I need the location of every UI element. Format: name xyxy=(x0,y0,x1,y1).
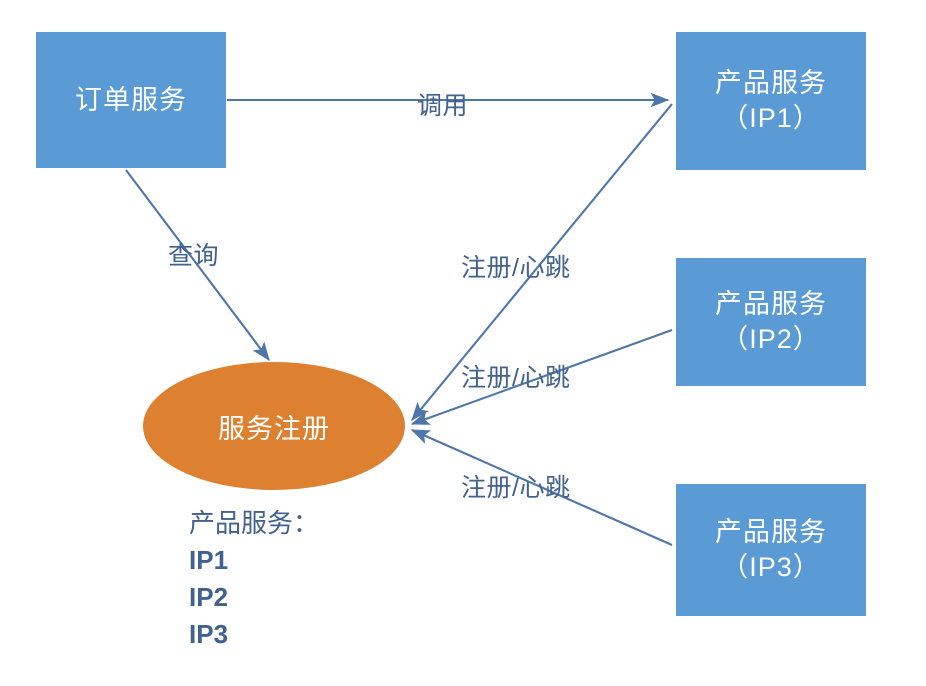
registry-note-entry-ip1: IP1 xyxy=(189,542,319,579)
node-service-registry-label: 服务注册 xyxy=(218,407,330,446)
registry-note-heading: 产品服务： xyxy=(189,505,319,542)
node-product-service-ip2[interactable]: 产品服务 （IP2） xyxy=(676,258,866,386)
edge-label-register-heartbeat-3: 注册/心跳 xyxy=(461,468,570,504)
node-product-service-ip1[interactable]: 产品服务 （IP1） xyxy=(676,32,866,170)
node-product-service-ip2-label: 产品服务 xyxy=(715,287,827,322)
node-order-service-label: 订单服务 xyxy=(75,83,187,118)
edge-label-register-heartbeat-1: 注册/心跳 xyxy=(461,248,570,284)
edge-label-call: 调用 xyxy=(417,86,468,122)
node-product-service-ip1-sublabel: （IP1） xyxy=(721,101,821,136)
edge-label-query: 查询 xyxy=(168,236,219,272)
node-service-registry[interactable]: 服务注册 xyxy=(143,362,405,490)
node-product-service-ip3-label: 产品服务 xyxy=(715,515,827,550)
node-order-service[interactable]: 订单服务 xyxy=(36,32,226,168)
registry-note-entry-ip3: IP3 xyxy=(189,616,319,653)
node-product-service-ip3-sublabel: （IP3） xyxy=(721,550,821,585)
edge-label-register-heartbeat-2: 注册/心跳 xyxy=(461,358,570,394)
node-product-service-ip3[interactable]: 产品服务 （IP3） xyxy=(676,484,866,616)
registry-contents-note: 产品服务： IP1 IP2 IP3 xyxy=(189,505,319,653)
registry-note-entry-ip2: IP2 xyxy=(189,579,319,616)
node-product-service-ip2-sublabel: （IP2） xyxy=(721,322,821,357)
node-product-service-ip1-label: 产品服务 xyxy=(715,66,827,101)
